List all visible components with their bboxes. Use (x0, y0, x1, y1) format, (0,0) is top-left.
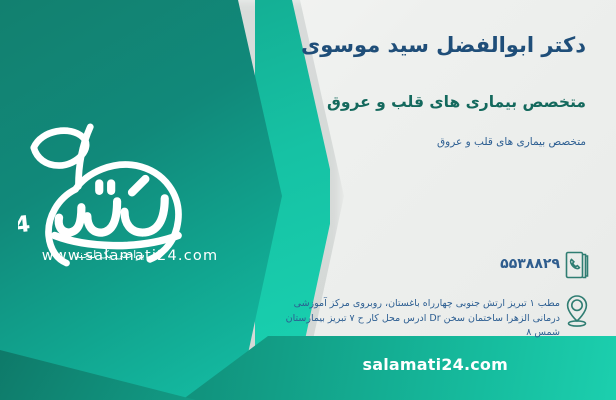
doctor-name: دکتر ابوالفضل سید موسوی (301, 33, 586, 57)
map-pin-icon (560, 294, 594, 328)
contact-block: ۵۵۳۸۸۲۹ مطب ۱ تبریز ارتش جنوبی چهارراه ب… (264, 248, 594, 353)
doctor-specialty-secondary: متخصص بیماری های قلب و عروق (437, 136, 586, 148)
clinic-address: مطب ۱ تبریز ارتش جنوبی چهارراه باغستان، … (264, 294, 560, 341)
contact-row-address[interactable]: مطب ۱ تبریز ارتش جنوبی چهارراه باغستان، … (264, 294, 594, 341)
doctor-specialty: متخصص بیماری های قلب و عروق (327, 93, 586, 111)
footer-website-url[interactable]: salamati24.com (363, 355, 509, 374)
logo-website-url: www.salamati24.com (24, 248, 236, 264)
phonebook-icon (560, 248, 594, 282)
business-card: 24 براحتی یک لبخند www.salamati24.com دک… (0, 0, 616, 400)
svg-text:24: 24 (18, 211, 31, 240)
contact-row-phone[interactable]: ۵۵۳۸۸۲۹ (264, 248, 594, 282)
phone-number: ۵۵۳۸۸۲۹ (264, 248, 560, 272)
